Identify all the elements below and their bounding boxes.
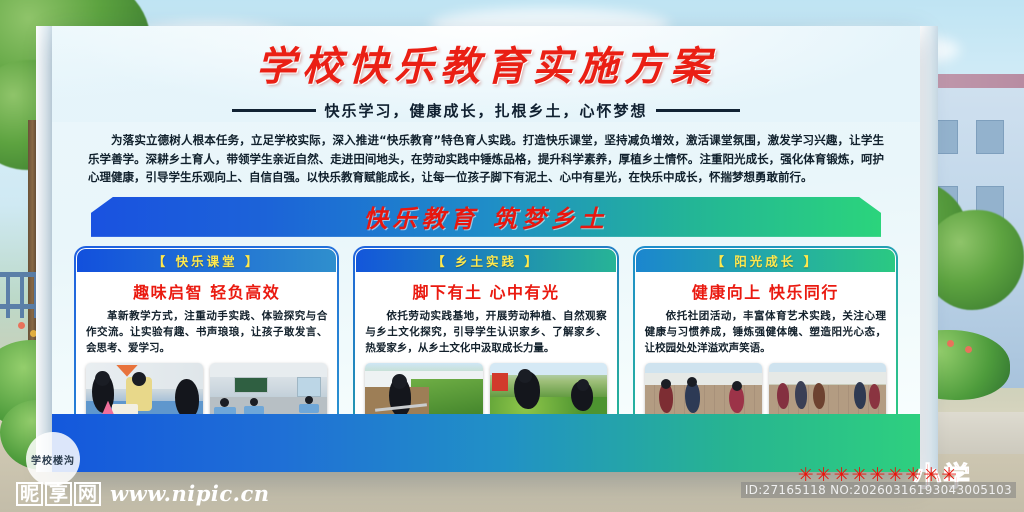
logo-char-3: 网 (74, 482, 101, 506)
card-rural-practice[interactable]: 【 乡土实践 】 脚下有土 心中有光 依托劳动实践基地，开展劳动种植、自然观察与… (353, 246, 618, 428)
card-body-text: 依托劳动实践基地，开展劳动种植、自然观察与乡土文化探究，引导学生认识家乡、了解家… (365, 308, 606, 357)
card-header-label: 【 阳光成长 】 (711, 251, 819, 270)
card-header: 【 快乐课堂 】 (77, 249, 336, 272)
card-list: 【 快乐课堂 】 趣味启智 轻负高效 革新教学方式，注重动手实践、体验探究与合作… (74, 246, 898, 428)
page-title: 学校快乐教育实施方案 (52, 26, 920, 92)
flower-icon (18, 322, 25, 329)
watermark-url: www.nipic.cn (110, 481, 270, 506)
section-banner: 快乐教育 筑梦乡土 (91, 197, 881, 237)
logo-char-2: 享 (45, 482, 72, 506)
nipic-logo-icon: 昵 享 网 (16, 482, 101, 506)
intro-paragraph: 为落实立德树人根本任务，立足学校实际，深入推进“快乐教育”特色育人实践。打造快乐… (88, 131, 884, 187)
logo-char-1: 昵 (16, 482, 43, 506)
poster-scene: 学校快乐教育实施方案 快乐学习，健康成长，扎根乡土，心怀梦想 为落实立德树人根本… (0, 0, 1024, 512)
card-body-text: 革新教学方式，注重动手实践、体验探究与合作交流。让实验有趣、书声琅琅，让孩子敢发… (86, 308, 327, 357)
notice-board: 学校快乐教育实施方案 快乐学习，健康成长，扎根乡土，心怀梦想 为落实立德树人根本… (52, 26, 920, 472)
card-header: 【 乡土实践 】 (356, 249, 615, 272)
board-right-post (920, 26, 938, 472)
building-window (976, 120, 1004, 154)
image-id-bar: ✳✳✳✳✳✳✳✳✳ ID:27165118 NO:202603161930430… (741, 468, 1016, 498)
card-happy-classroom[interactable]: 【 快乐课堂 】 趣味启智 轻负高效 革新教学方式，注重动手实践、体验探究与合作… (74, 246, 339, 428)
card-header-label: 【 快乐课堂 】 (153, 251, 261, 270)
subtitle-dash-left (232, 109, 316, 112)
flower-icon (965, 346, 972, 353)
banner-title: 快乐教育 筑梦乡土 (363, 199, 608, 234)
watermark: 昵 享 网 www.nipic.cn (16, 481, 270, 506)
card-sunshine-growth[interactable]: 【 阳光成长 】 健康向上 快乐同行 依托社团活动，丰富体育艺术实践，关注心理健… (633, 246, 898, 428)
card-title: 趣味启智 轻负高效 (77, 279, 336, 303)
card-title: 健康向上 快乐同行 (636, 279, 895, 303)
school-fence (20, 272, 24, 318)
subtitle-dash-right (656, 109, 740, 112)
star-row: ✳✳✳✳✳✳✳✳✳ (798, 468, 959, 482)
card-header-label: 【 乡土实践 】 (432, 251, 540, 270)
card-header: 【 阳光成长 】 (636, 249, 895, 272)
card-body-text: 依托社团活动，丰富体育艺术实践，关注心理健康与习惯养成，锤炼强健体魄、塑造阳光心… (645, 308, 886, 357)
image-id-text: ID:27165118 NO:20260316193043005103 (741, 482, 1016, 498)
board-footer-rail (52, 414, 920, 472)
school-badge: 学校楼沟 (26, 432, 80, 486)
card-title: 脚下有土 心中有光 (356, 279, 615, 303)
flower-icon (947, 340, 954, 347)
subtitle-text: 快乐学习，健康成长，扎根乡土，心怀梦想 (324, 100, 647, 121)
school-fence (6, 272, 10, 318)
subtitle-row: 快乐学习，健康成长，扎根乡土，心怀梦想 (52, 100, 920, 121)
